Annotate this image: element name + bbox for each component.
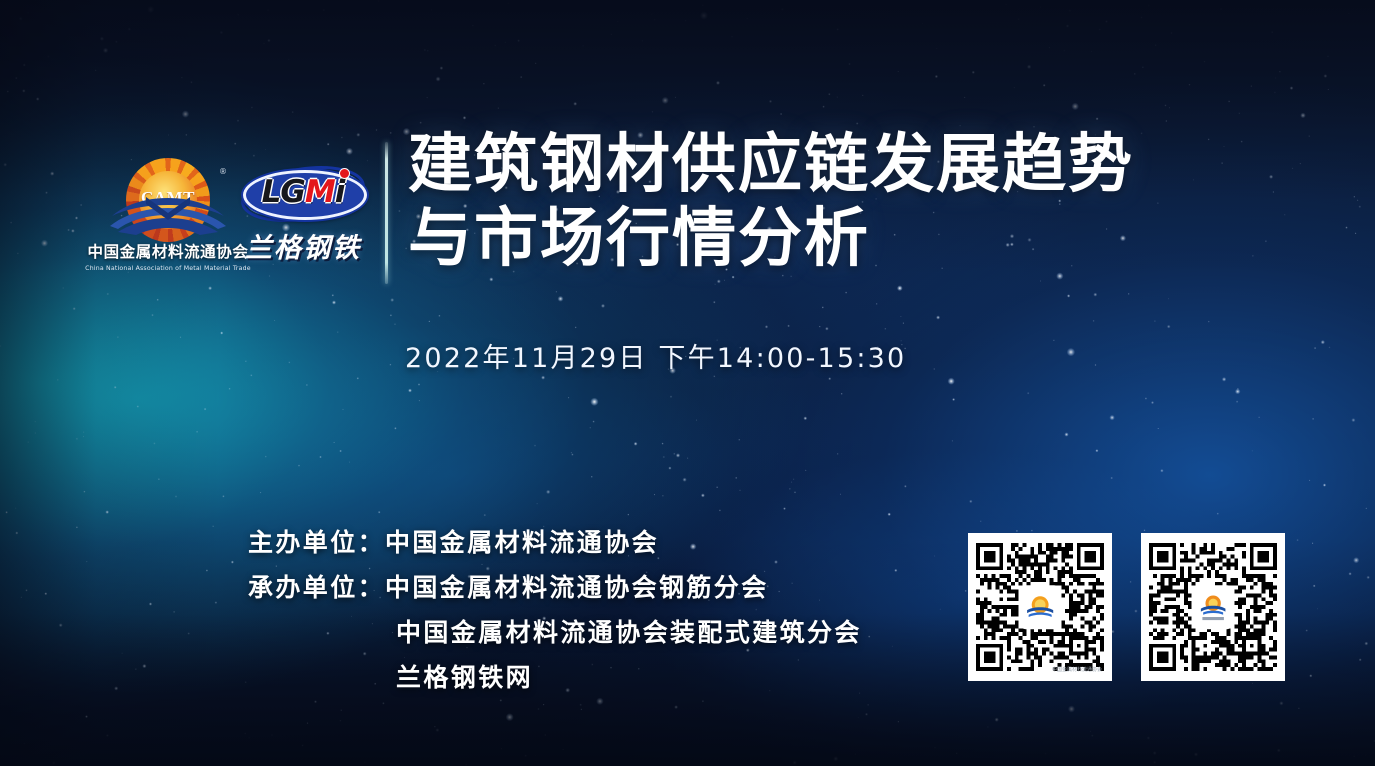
organizer-line-3: 中国金属材料流通协会装配式建筑分会 <box>248 610 862 655</box>
lgmi-emblem-icon: LGMi <box>239 163 367 225</box>
headline-line-2: 与市场行情分析 <box>408 202 1134 276</box>
camt-wings-icon <box>106 196 230 236</box>
lgmi-wordmark: LGMi <box>239 172 367 212</box>
qr-code-left-inner: 中国金属材料流通协会 <box>976 541 1104 673</box>
organizers-block: 主办单位：中国金属材料流通协会 承办单位：中国金属材料流通协会钢筋分会 中国金属… <box>248 520 862 700</box>
camt-english-name: China National Association of Metal Mate… <box>81 264 256 272</box>
qr-code-left[interactable]: 中国金属材料流通协会 <box>968 533 1112 681</box>
qr-code-right-inner <box>1149 541 1277 673</box>
lgmi-dot-icon <box>339 168 350 179</box>
poster-canvas: CAMT ® 中国金属材料流通协会 China National Associa… <box>0 0 1375 766</box>
qr-code-left-center-logo <box>1021 587 1059 627</box>
schedule-text: 2022年11月29日 下午14:00-15:30 <box>405 336 906 375</box>
camt-chinese-name: 中国金属材料流通协会 <box>78 240 258 262</box>
qr-code-right[interactable] <box>1141 533 1285 681</box>
camt-sun-wave-badge-icon <box>1025 591 1056 623</box>
lgmi-chinese-name: 兰格钢铁 <box>239 226 367 265</box>
organizer-line-2: 承办单位：中国金属材料流通协会钢筋分会 <box>248 565 862 610</box>
lgmi-lg-text: LG <box>262 174 305 210</box>
headline-block: 建筑钢材供应链发展趋势 与市场行情分析 <box>408 128 1134 276</box>
organizer-line-4: 兰格钢铁网 <box>248 655 862 700</box>
headline-line-1: 建筑钢材供应链发展趋势 <box>408 128 1134 202</box>
lgmi-mi-text: i <box>335 174 345 210</box>
lgmi-logo: LGMi 兰格钢铁 <box>239 163 367 265</box>
camt-logo: CAMT ® 中国金属材料流通协会 China National Associa… <box>78 158 258 272</box>
vertical-divider <box>385 142 388 284</box>
qr-code-right-center-logo <box>1194 587 1232 627</box>
organizer-line-1: 主办单位：中国金属材料流通协会 <box>248 520 862 565</box>
lgmi-g-text: M <box>305 174 335 210</box>
camt-emblem-badge-icon <box>1198 591 1229 623</box>
camt-emblem-icon: CAMT ® <box>106 158 230 236</box>
qr-code-left-watermark: 中国金属材料流通协会 <box>1052 666 1102 673</box>
registered-trademark-icon: ® <box>219 167 227 176</box>
